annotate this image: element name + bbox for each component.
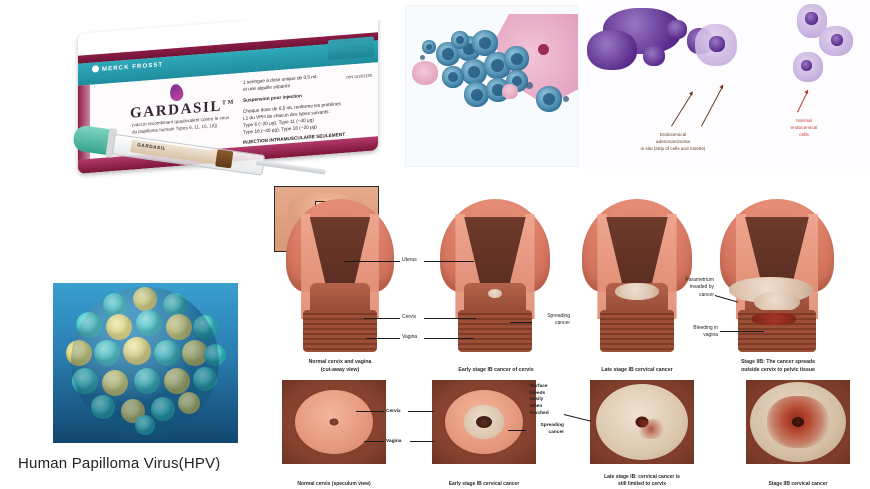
normal-endocervical-cell-nucleus bbox=[831, 34, 843, 46]
syringe-plunger-rod bbox=[256, 160, 326, 175]
vagina-leader-line bbox=[366, 338, 400, 339]
uterus-stage-iib bbox=[720, 199, 834, 349]
endocervical-adenocarcinoma-label: Endocervical adenocarcinoma in situ (str… bbox=[613, 132, 733, 153]
caption-line-1: Stage IIB: The cancer spreads bbox=[708, 359, 848, 367]
merck-logo-mark bbox=[92, 65, 99, 73]
surface-bleeds-line-4: when bbox=[530, 404, 564, 411]
pink-cell bbox=[412, 61, 438, 85]
caption-line-1: Stage IIB cervical cancer bbox=[746, 481, 850, 488]
label-bleeding-vagina: Bleeding in vagina bbox=[676, 325, 718, 340]
label-spreading-cancer: Spreading cancer bbox=[528, 422, 564, 436]
blue-cell bbox=[442, 66, 464, 88]
label-vagina: Vagina bbox=[402, 334, 417, 341]
debris-speck bbox=[420, 55, 425, 60]
label-cervix: Cervix bbox=[386, 408, 401, 415]
hpv-capsid-icon bbox=[53, 283, 238, 443]
normal-label-line-3: cells bbox=[771, 132, 837, 139]
bleeding-leader-line bbox=[720, 331, 764, 332]
speculum-caption: Normal cervix (speculum view) bbox=[282, 481, 386, 488]
label-vagina: Vagina bbox=[386, 438, 401, 445]
lesion-label-line-3: in situ (strip of cells and rosette) bbox=[613, 146, 733, 153]
normal-cells-leader-arrow bbox=[797, 90, 808, 112]
spreading-cancer-line-2: cancer bbox=[530, 320, 570, 327]
vagina bbox=[600, 310, 675, 352]
cervix-leader-line bbox=[356, 411, 384, 412]
parametrium-line-1: Parametrium bbox=[672, 277, 714, 284]
anatomy-panel-caption: Early stage IB cancer of cervix bbox=[432, 367, 560, 375]
hpv-virion-image bbox=[53, 283, 238, 443]
speculum-view-late-ib bbox=[590, 380, 694, 464]
vagina-leader-line bbox=[364, 441, 384, 442]
adenocarcinoma-cell bbox=[667, 20, 687, 39]
cervical-cancer-stages-anatomy-row: AREA OF ENLARGEMENT Normal cervix and va… bbox=[272, 185, 870, 375]
anatomy-panel-caption: Late stage IB cervical cancer bbox=[572, 367, 702, 375]
caption-line-1: Early stage IB cancer of cervix bbox=[432, 367, 560, 375]
pap-smear-micrograph bbox=[405, 5, 579, 167]
caption-line-1: Normal cervix (speculum view) bbox=[282, 481, 386, 488]
endocervical-adenocarcinoma-micrograph: Endocervical adenocarcinoma in situ (str… bbox=[583, 0, 870, 175]
speculum-view-normal bbox=[282, 380, 386, 464]
cervical-os bbox=[476, 416, 492, 428]
pink-cell bbox=[502, 84, 518, 99]
spreading-cancer-line-1: Spreading bbox=[528, 422, 564, 429]
anatomy-panel-caption: Normal cervix and vagina (cut-away view) bbox=[276, 359, 404, 375]
gardasil-vaccine-photo: MERCK FROSST GARDASILTM (vaccin recombin… bbox=[70, 20, 390, 195]
label-cervix: Cervix bbox=[402, 314, 416, 321]
carton-french-text: 1 seringue à dose unique de 0,5 mL et un… bbox=[243, 69, 373, 147]
normal-label-line-2: endocervical bbox=[771, 125, 837, 132]
debris-speck bbox=[526, 82, 533, 89]
uterus-leader-line bbox=[344, 261, 400, 262]
brand-tm-mark: TM bbox=[222, 99, 235, 106]
normal-endocervical-cell-nucleus bbox=[805, 12, 818, 25]
speculum-caption: Early stage IB cervical cancer bbox=[432, 481, 536, 488]
lesion-leader-arrow bbox=[701, 85, 723, 126]
parametrium-line-2: invaded by bbox=[672, 284, 714, 291]
caption-line-2: still limited to cervix bbox=[590, 481, 694, 488]
caption-line-2: (cut-away view) bbox=[276, 367, 404, 375]
lesion-label-line-2: adenocarcinoma bbox=[613, 139, 733, 146]
vagina-leader-line-2 bbox=[424, 338, 474, 339]
adenocarcinoma-cell bbox=[643, 46, 665, 66]
speculum-view-early-ib bbox=[432, 380, 536, 464]
spreading-cancer-leader-line bbox=[508, 430, 526, 431]
blue-cell bbox=[422, 40, 436, 54]
carton-side-panel bbox=[328, 37, 374, 61]
uterus-leader-line-2 bbox=[424, 261, 474, 262]
caption-line-1: Late stage IB cervical cancer bbox=[572, 367, 702, 375]
spreading-cancer-line-1: Spreading bbox=[530, 313, 570, 320]
anatomy-panel-caption: Stage IIB: The cancer spreads outside ce… bbox=[708, 359, 848, 375]
caption-line-1: Late stage IB: cervical cancer is bbox=[590, 474, 694, 481]
normal-label-line-1: Normal bbox=[771, 118, 837, 125]
bleeding-line-2: vagina bbox=[676, 332, 718, 339]
label-parametrium: Parametrium invaded by cancer bbox=[672, 277, 714, 299]
speculum-caption: Stage IIB cervical cancer bbox=[746, 481, 850, 488]
speculum-view-stage-iib bbox=[746, 380, 850, 464]
vaginal-bleeding bbox=[752, 313, 796, 325]
bleeding-line-1: Bleeding in bbox=[676, 325, 718, 332]
debris-speck bbox=[563, 96, 569, 102]
blue-cell bbox=[464, 82, 489, 107]
cervix-leader-line-2 bbox=[424, 318, 476, 319]
bleeding-area bbox=[636, 419, 666, 439]
spreading-cancer-line-2: cancer bbox=[528, 429, 564, 436]
blue-cell bbox=[504, 46, 529, 71]
adenocarcinoma-cell bbox=[709, 36, 725, 52]
label-spreading-cancer: Spreading cancer bbox=[530, 313, 570, 328]
speculum-caption: Late stage IB: cervical cancer is still … bbox=[590, 474, 694, 489]
cervix-speculum-views-row: Normal cervix (speculum view) Early stag… bbox=[272, 378, 870, 489]
label-uterus: Uterus bbox=[402, 257, 417, 264]
vagina bbox=[303, 310, 376, 352]
lesion-leader-arrow bbox=[671, 92, 693, 126]
lesion-label-line-1: Endocervical bbox=[613, 132, 733, 139]
normal-endocervical-cell-nucleus bbox=[801, 60, 812, 71]
cervical-os bbox=[330, 419, 339, 426]
cervix-leader-line bbox=[364, 318, 400, 319]
syringe-stopper bbox=[215, 149, 233, 168]
label-surface-bleeds: Surface bleeds easily when touched bbox=[530, 384, 564, 418]
tumor-lesion bbox=[615, 283, 659, 300]
spreading-cancer-leader-line bbox=[510, 322, 532, 323]
caption-line-2: outside cervix to pelvic tissue bbox=[708, 367, 848, 375]
surface-bleeds-line-1: Surface bbox=[530, 384, 564, 391]
cervix-leader-line-2 bbox=[408, 411, 434, 412]
surface-bleeds-leader-line bbox=[564, 414, 591, 422]
surface-bleeds-line-5: touched bbox=[530, 411, 564, 418]
page-caption: Human Papilloma Virus(HPV) bbox=[18, 455, 221, 472]
adenocarcinoma-cell-strip bbox=[587, 30, 637, 70]
parametrium-line-3: cancer bbox=[672, 292, 714, 299]
vagina-leader-line-2 bbox=[410, 441, 434, 442]
blue-cell bbox=[536, 86, 562, 112]
tumor-lesion bbox=[754, 292, 800, 312]
squamous-cell-nucleus bbox=[538, 44, 549, 55]
vagina bbox=[458, 310, 533, 352]
cervical-os bbox=[792, 417, 804, 427]
normal-endocervical-cells-label: Normal endocervical cells bbox=[771, 118, 837, 140]
uterus-normal bbox=[286, 199, 394, 349]
blue-cell bbox=[451, 31, 469, 49]
caption-line-1: Early stage IB cervical cancer bbox=[432, 481, 536, 488]
caption-line-1: Normal cervix and vagina bbox=[276, 359, 404, 367]
